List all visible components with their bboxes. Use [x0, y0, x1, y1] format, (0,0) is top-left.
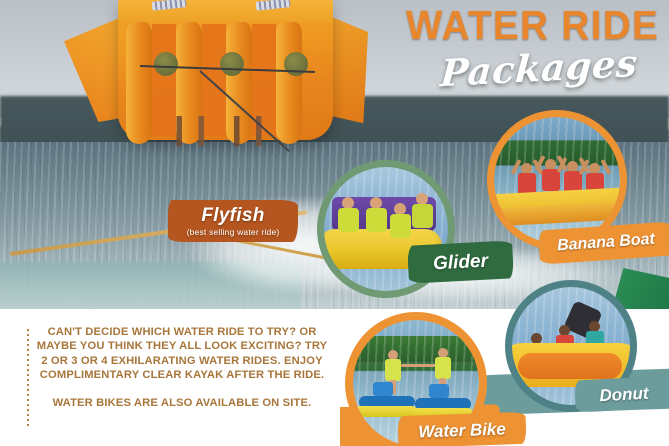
promo-paragraph-1: CAN'T DECIDE WHICH WATER RIDE TO TRY? OR…: [34, 325, 330, 383]
water-bike-seat: [373, 382, 393, 396]
flyfish-vent: [154, 52, 178, 76]
dotted-divider: [27, 329, 29, 429]
water-ride-packages-poster: WATER RIDE Packages: [0, 0, 669, 446]
ride-label-flyfish: Flyfish (best selling water ride): [168, 200, 298, 242]
ride-label-text: Banana Boat: [557, 232, 656, 255]
ride-label-text: Flyfish: [201, 206, 264, 225]
rider-life-vest: [412, 204, 433, 228]
ride-label-text: Donut: [599, 384, 649, 404]
rider-life-vest: [338, 208, 359, 232]
riders-joined-hands: [401, 364, 439, 367]
ride-label-glider: Glider: [407, 240, 514, 283]
headline-script: Packages: [415, 40, 664, 95]
promo-paragraph-2: WATER BIKES ARE ALSO AVAILABLE ON SITE.: [34, 396, 330, 410]
glider-rider: [390, 203, 411, 241]
water-bike-seat: [429, 384, 449, 398]
glider-rider: [338, 197, 359, 235]
flyfish-riders-legs: [170, 116, 280, 146]
poster-headline: WATER RIDE Packages: [398, 4, 662, 89]
rider-life-vest: [385, 359, 401, 381]
glider-rider: [366, 197, 387, 235]
rider-life-vest: [435, 357, 451, 379]
rider-life-vest: [366, 208, 387, 232]
ride-label-water-bike: Water Bike: [397, 412, 526, 446]
flyfish-top-edge: [118, 0, 333, 22]
ride-label-text: Water Bike: [418, 420, 506, 440]
flyfish-tube: [126, 20, 152, 144]
ride-label-subtitle: (best selling water ride): [187, 228, 280, 237]
donut-tube-inner: [518, 353, 622, 379]
ride-label-donut: Donut: [574, 375, 669, 412]
promo-copy: CAN'T DECIDE WHICH WATER RIDE TO TRY? OR…: [34, 325, 330, 410]
flyfish-inflatable: [60, 0, 360, 196]
glider-rider: [412, 193, 433, 231]
water-bike-rider: [435, 348, 451, 388]
headline-main: WATER RIDE: [406, 4, 654, 46]
banana-rider: [542, 159, 560, 193]
flyfish-vent: [220, 52, 244, 76]
rider-life-vest: [542, 169, 560, 191]
ride-label-text: Glider: [433, 251, 489, 273]
rider-life-vest: [390, 214, 411, 238]
